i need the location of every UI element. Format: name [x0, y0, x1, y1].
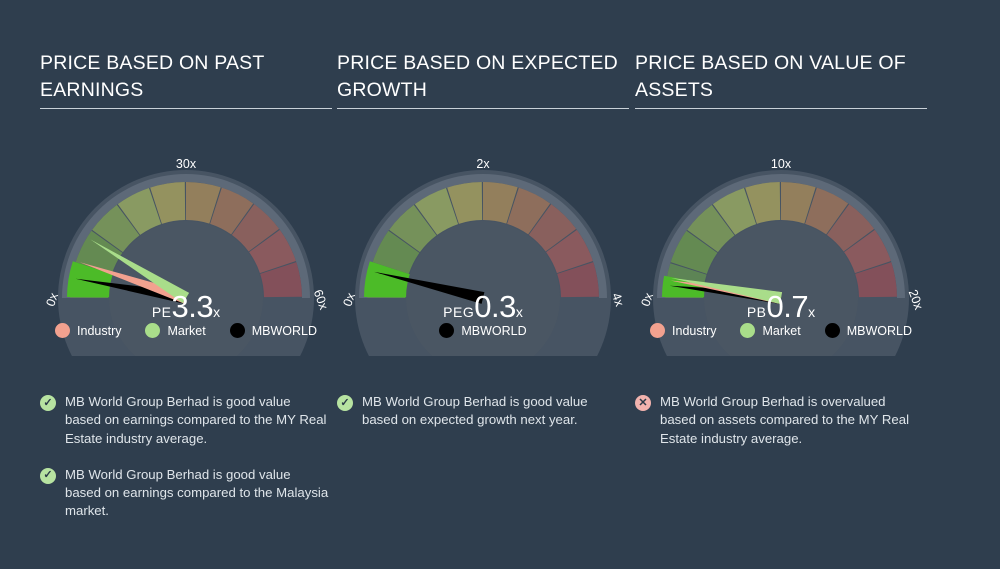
check-icon: ✓: [337, 395, 353, 411]
legend-item-market: Market: [145, 323, 205, 338]
statement-text: MB World Group Berhad is good value base…: [362, 393, 627, 430]
statement-row: ✓ MB World Group Berhad is good value ba…: [40, 466, 330, 521]
legend-label-mbworld: MBWORLD: [461, 324, 526, 338]
statement-text: MB World Group Berhad is good value base…: [65, 393, 330, 448]
gauge-value-unit: x: [808, 304, 815, 320]
column-expected-growth: PRICE BASED ON EXPECTED GROWTH 2x0x4x PE…: [337, 50, 629, 356]
page-title-expected-growth: PRICE BASED ON EXPECTED GROWTH: [337, 50, 629, 108]
legend-label-market: Market: [167, 324, 205, 338]
gauge-value-unit: x: [213, 304, 220, 320]
gauge-value-peg: PEG0.3x: [337, 289, 629, 325]
column-value-of-assets: PRICE BASED ON VALUE OF ASSETS 10x0x20x …: [635, 50, 927, 356]
legend-item-mbworld: MBWORLD: [230, 323, 317, 338]
gauge-legend-pe: Industry Market MBWORLD: [40, 323, 332, 338]
legend-item-industry: Industry: [650, 323, 716, 338]
gauge-pb: 10x0x20x PB0.7x Industry Market MBWORLD: [635, 141, 927, 356]
check-icon: ✓: [40, 468, 56, 484]
gauge-value-pe: PE3.3x: [40, 289, 332, 325]
statements-past-earnings: ✓ MB World Group Berhad is good value ba…: [40, 393, 330, 539]
legend-dot-market: [145, 323, 160, 338]
valuation-gauges-board: PRICE BASED ON PAST EARNINGS 30x0x60x PE…: [0, 0, 1000, 569]
page-title-value-of-assets: PRICE BASED ON VALUE OF ASSETS: [635, 50, 927, 108]
legend-item-market: Market: [740, 323, 800, 338]
legend-dot-market: [740, 323, 755, 338]
statement-text: MB World Group Berhad is overvalued base…: [660, 393, 925, 448]
gauge-tick-mid: 2x: [476, 157, 490, 171]
gauge-legend-peg: MBWORLD: [337, 323, 629, 338]
check-icon: ✓: [40, 395, 56, 411]
legend-dot-mbworld: [439, 323, 454, 338]
gauge-tick-mid: 10x: [771, 157, 792, 171]
gauge-peg: 2x0x4x PEG0.3x MBWORLD: [337, 141, 629, 356]
gauge-metric-label: PE: [152, 304, 172, 320]
title-divider: [337, 108, 629, 109]
statement-text: MB World Group Berhad is good value base…: [65, 466, 330, 521]
legend-label-industry: Industry: [77, 324, 121, 338]
gauge-tick-mid: 30x: [176, 157, 197, 171]
title-divider: [40, 108, 332, 109]
gauge-value-pb: PB0.7x: [635, 289, 927, 325]
gauge-pe: 30x0x60x PE3.3x Industry Market MBWORLD: [40, 141, 332, 356]
legend-item-mbworld: MBWORLD: [439, 323, 526, 338]
legend-item-industry: Industry: [55, 323, 121, 338]
gauge-value-unit: x: [516, 304, 523, 320]
legend-item-mbworld: MBWORLD: [825, 323, 912, 338]
gauge-metric-label: PEG: [443, 304, 474, 320]
statements-expected-growth: ✓ MB World Group Berhad is good value ba…: [337, 393, 627, 448]
title-divider: [635, 108, 927, 109]
legend-dot-mbworld: [230, 323, 245, 338]
column-past-earnings: PRICE BASED ON PAST EARNINGS 30x0x60x PE…: [40, 50, 332, 356]
statements-value-of-assets: ✕ MB World Group Berhad is overvalued ba…: [635, 393, 925, 466]
legend-label-mbworld: MBWORLD: [252, 324, 317, 338]
legend-label-industry: Industry: [672, 324, 716, 338]
statement-row: ✕ MB World Group Berhad is overvalued ba…: [635, 393, 925, 448]
gauge-legend-pb: Industry Market MBWORLD: [635, 323, 927, 338]
statement-row: ✓ MB World Group Berhad is good value ba…: [40, 393, 330, 448]
legend-dot-industry: [55, 323, 70, 338]
page-title-past-earnings: PRICE BASED ON PAST EARNINGS: [40, 50, 332, 108]
gauge-value-number: 0.3: [474, 289, 516, 324]
gauge-value-number: 3.3: [172, 289, 214, 324]
gauge-metric-label: PB: [747, 304, 767, 320]
legend-label-mbworld: MBWORLD: [847, 324, 912, 338]
legend-label-market: Market: [762, 324, 800, 338]
legend-dot-industry: [650, 323, 665, 338]
statement-row: ✓ MB World Group Berhad is good value ba…: [337, 393, 627, 430]
cross-icon: ✕: [635, 395, 651, 411]
gauge-value-number: 0.7: [767, 289, 809, 324]
legend-dot-mbworld: [825, 323, 840, 338]
